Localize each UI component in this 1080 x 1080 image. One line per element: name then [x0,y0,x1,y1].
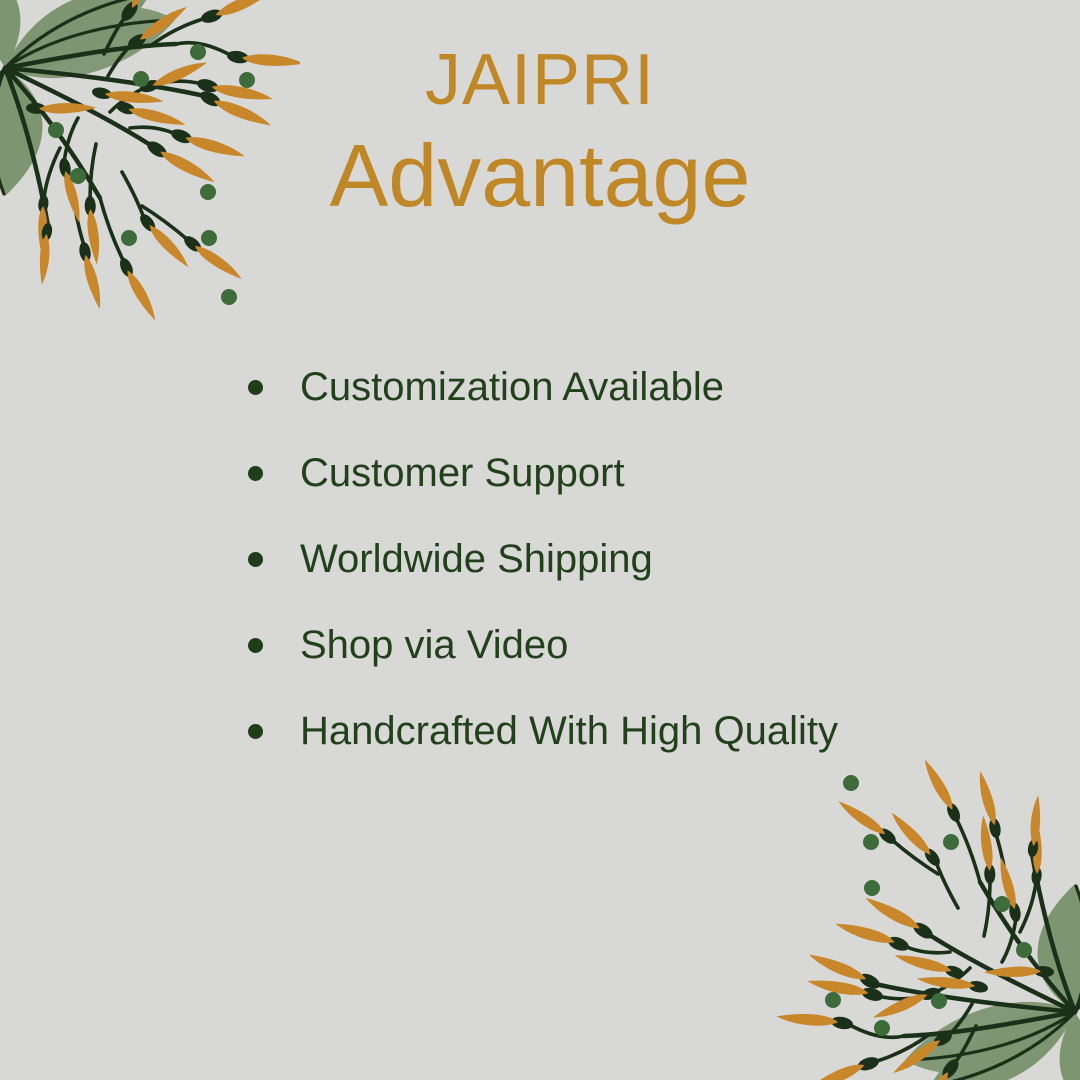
list-item: Customization Available [248,344,1028,430]
advantage-list: Customization Available Customer Support… [248,344,1028,774]
botanical-branch-icon-bottom-right [750,730,1080,1080]
list-item: Customer Support [248,430,1028,516]
list-item: Shop via Video [248,602,1028,688]
bullet-dot-icon [248,466,263,481]
list-item-label: Worldwide Shipping [300,537,653,581]
bullet-dot-icon [248,724,263,739]
page-title-block: JAIPRI Advantage [0,44,1080,220]
bullet-dot-icon [248,380,263,395]
list-item-label: Handcrafted With High Quality [300,709,838,753]
list-item-label: Customization Available [300,365,724,409]
advantage-poster: JAIPRI Advantage Customization Available… [0,0,1080,1080]
bullet-dot-icon [248,638,263,653]
list-item: Worldwide Shipping [248,516,1028,602]
brand-name: JAIPRI [0,44,1080,116]
list-item-label: Customer Support [300,451,625,495]
page-title: Advantage [0,132,1080,220]
bullet-dot-icon [248,552,263,567]
list-item: Handcrafted With High Quality [248,688,1028,774]
list-item-label: Shop via Video [300,623,568,667]
